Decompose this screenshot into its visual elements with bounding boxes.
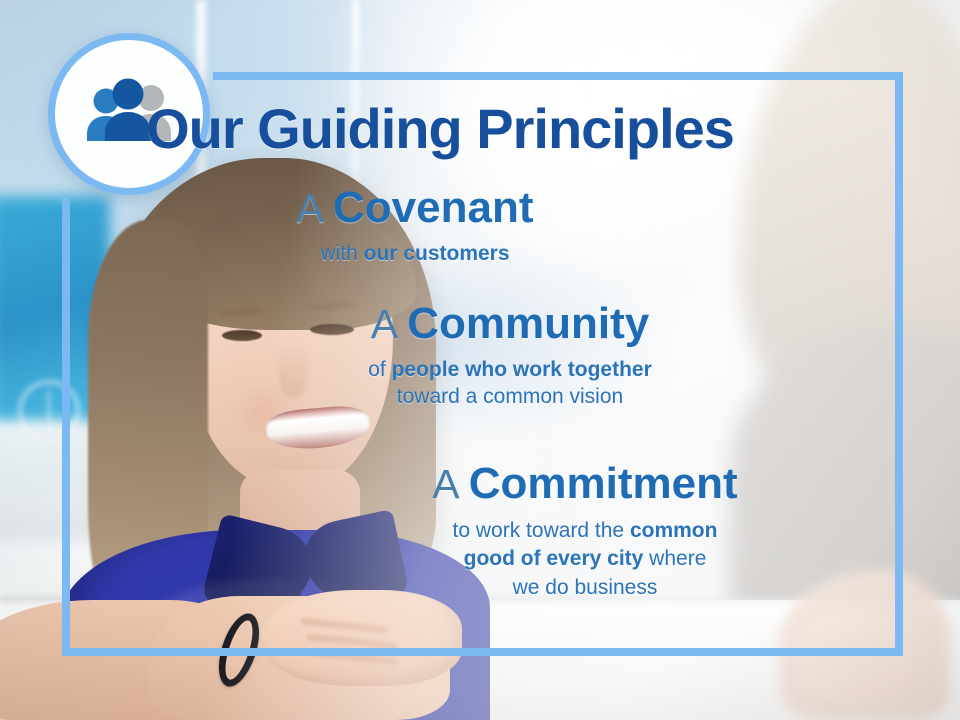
principle-keyword: Community [407,299,649,348]
principle-subtext-line: of people who work together [30,357,960,384]
principle-keyword: Covenant [333,183,533,232]
principle-subtext-line: good of every city where [105,545,960,573]
regular-text: toward a common vision [397,385,623,408]
principle-article: A [297,185,333,231]
principle-article: A [371,301,407,347]
emphasis-text: common [630,519,718,542]
principle-heading: A Covenant [0,186,895,231]
emphasis-text: our customers [364,242,510,265]
principle-subtext-line: we do business [105,574,960,602]
regular-text: we do business [513,576,658,599]
principle-subtext-line: with our customers [0,241,895,268]
emphasis-text: people who work together [392,358,652,381]
principle-subtext-line: to work toward the common [105,517,960,545]
regular-text: with [320,242,363,265]
principle-block: A Commitment to work toward the commongo… [105,462,960,602]
principle-block: A Covenant with our customers [0,186,895,268]
principle-article: A [432,461,468,507]
principle-subtext: to work toward the commongood of every c… [105,517,960,602]
principle-heading: A Community [30,302,960,347]
principle-subtext-line: toward a common vision [30,384,960,411]
principle-subtext: of people who work togethertoward a comm… [30,357,960,411]
regular-text: of [368,358,391,381]
poster-canvas: FLOW FLOW [0,0,960,720]
regular-text: to work toward the [453,519,630,542]
regular-text: where [643,547,706,570]
page-title: Our Guiding Principles [0,96,880,161]
emphasis-text: good of every city [464,547,644,570]
poster-text: Our Guiding Principles A Covenant with o… [0,0,960,720]
principle-block: A Community of people who work togethert… [30,302,960,411]
principle-keyword: Commitment [469,459,738,508]
principle-subtext: with our customers [0,241,895,268]
principle-heading: A Commitment [105,462,960,507]
